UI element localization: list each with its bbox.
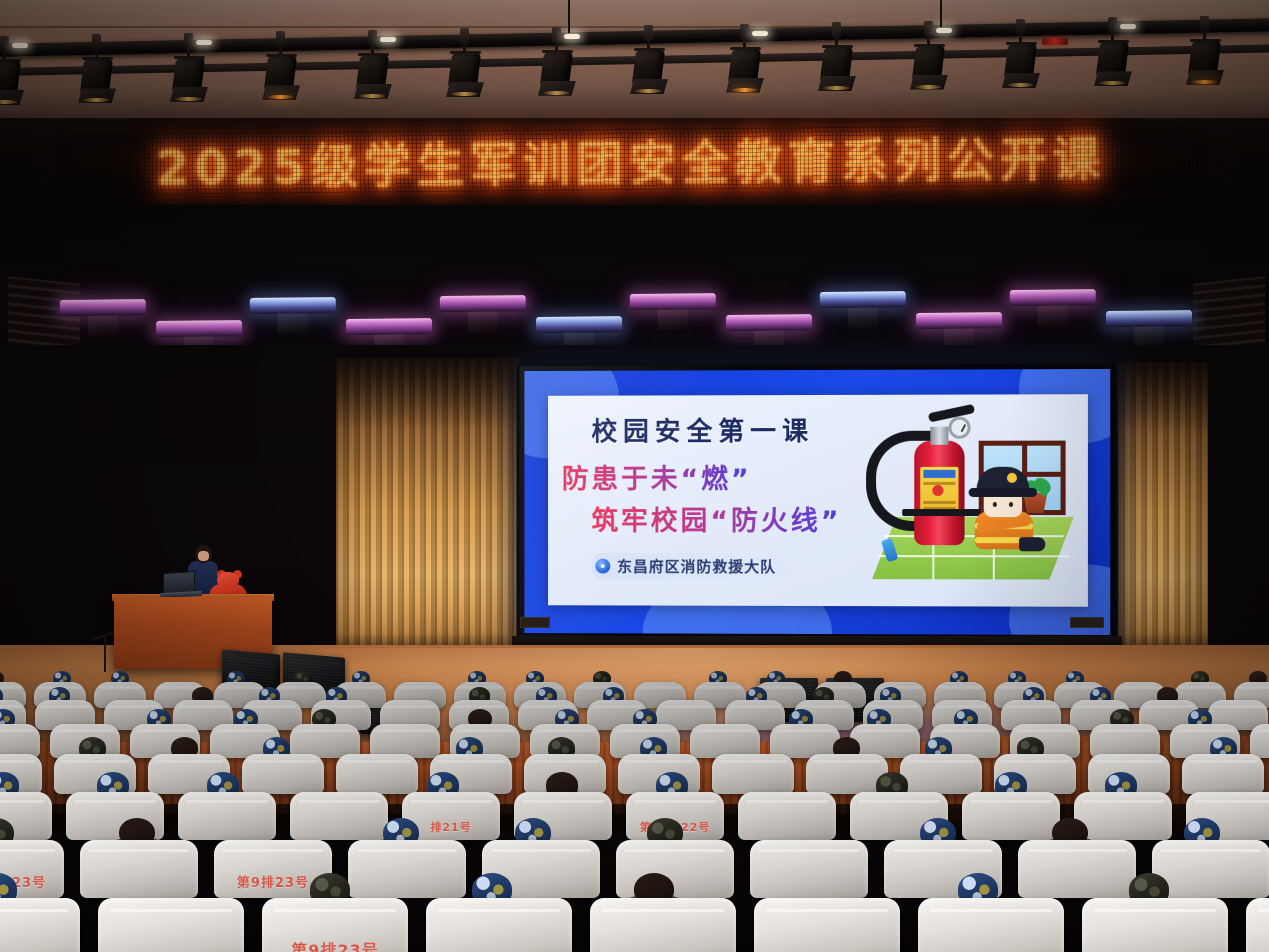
auditorium-seat[interactable] [590,898,736,952]
lawn-line [878,555,1070,557]
auditorium-seat[interactable] [918,898,1064,952]
truss-clamp [460,28,469,44]
spotlight-body [1004,44,1037,78]
spotlight-lens [1191,80,1218,84]
spotlight-lens [1007,83,1034,87]
auditorium-seat[interactable] [178,792,276,840]
led-banner-text: 2025级学生军训团安全教育系列公开课 [156,120,1106,198]
auditorium-seat[interactable] [0,724,40,758]
auditorium-seat[interactable] [426,898,572,952]
led-wash-bar [1106,310,1192,327]
led-wash-bar [60,299,146,316]
microphone-stand [104,636,106,672]
slide-content-card: 校园安全第一课 防患于未“燃” 筑牢校园“防火线” ● 东昌府区消防救援大队 [548,394,1088,607]
spotlight-lens [175,97,202,101]
spotlight-body [80,59,113,93]
stage-curtain-left [336,358,522,650]
auditorium-seat[interactable] [336,754,418,794]
auditorium-seat[interactable] [750,840,868,898]
slide-background: 校园安全第一课 防患于未“燃” 筑牢校园“防火线” ● 东昌府区消防救援大队 [524,369,1110,635]
truss-clamp [552,27,561,43]
auditorium-seat[interactable] [98,898,244,952]
led-wash-bar [346,318,432,335]
extinguisher-label [920,467,958,515]
auditorium-seat[interactable] [1250,724,1269,758]
truss-clamp [644,25,653,41]
spotlight-body [172,58,205,92]
truss-clamp [1200,16,1209,32]
spotlight-body [540,52,573,86]
truss-clamp [740,24,749,40]
auditorium-seat[interactable] [1152,840,1269,898]
truss-indicator-light [936,28,952,33]
mascot-head [217,572,239,589]
spotlight-body [820,47,853,81]
truss-clamp [92,34,101,50]
label-band [923,501,955,504]
auditorium-scene: 2025级学生军训团安全教育系列公开课 校园安全第一课 防患于未“燃” 筑牢校园… [0,0,1269,952]
truss-clamp [1016,19,1025,35]
led-wash-bar [156,320,242,337]
auditorium-seat[interactable] [850,724,920,758]
spotlight-body [728,49,761,83]
led-wash-bar [1010,289,1096,306]
auditorium-seat[interactable] [1182,754,1264,794]
spotlight-body [356,55,389,89]
auditorium-seat[interactable] [900,754,982,794]
slide-headline-2: 筑牢校园“防火线” [591,499,841,538]
auditorium-seat[interactable] [1018,840,1136,898]
led-wash-bar [726,314,812,331]
spotlight-body [1188,41,1221,75]
helmet-badge-icon [1007,473,1017,483]
auditorium-seat[interactable] [290,792,388,840]
spotlight-body [632,50,665,84]
spotlight-body [264,56,297,90]
auditorium-seat[interactable] [290,724,360,758]
truss-indicator-light [196,40,212,45]
firefighter-eye [1009,502,1013,507]
truss-clamp [832,22,841,38]
truss-indicator-light [564,34,580,39]
spotlight-lens [359,94,386,98]
extinguisher-neck [930,427,948,445]
auditorium-seat[interactable] [1082,898,1228,952]
label-band [923,470,955,478]
location-pin-icon: ● [595,559,610,574]
truss-indicator-light [1120,24,1136,29]
auditorium-seat[interactable] [712,754,794,794]
seat-number-label: 第9排23号 [262,937,408,952]
firefighter-eye [993,502,997,507]
truss-marker-light [1042,38,1068,45]
truss-indicator-light [380,37,396,42]
slide-title: 校园安全第一课 [591,411,814,448]
spotlight-body [912,46,945,80]
auditorium-seat[interactable] [770,724,840,758]
auditorium-seat[interactable] [1246,898,1269,952]
slide-organization: ● 东昌府区消防救援大队 [591,553,806,580]
slide-illustration [862,404,1082,587]
auditorium-seat[interactable] [754,898,900,952]
slide-headline-1: 防患于未“燃” [562,457,752,496]
spotlight-body [1096,42,1129,76]
truss-clamp [1108,17,1117,33]
helmet-brim [969,488,1038,497]
spotlight-body [448,53,481,87]
curtain-shadow [1112,362,1208,434]
led-wash-bar [536,316,622,333]
auditorium-seat[interactable] [370,724,440,758]
led-wash-bar [916,312,1002,329]
projection-screen[interactable]: 校园安全第一课 防患于未“燃” 筑牢校园“防火线” ● 东昌府区消防救援大队 [517,361,1119,643]
spotlight-body [0,61,21,95]
auditorium-seat[interactable] [242,754,324,794]
screen-plaque [520,617,550,628]
slide-organization-label: 东昌府区消防救援大队 [617,556,776,577]
spotlight-lens [543,91,570,95]
auditorium-seat[interactable] [80,840,198,898]
auditorium-seat[interactable] [690,724,760,758]
firefighter-character [963,467,1046,550]
presenter-face [198,551,209,561]
truss-clamp [368,30,377,46]
label-dot [932,485,943,496]
truss-indicator-light [752,31,768,36]
auditorium-seat[interactable] [1090,724,1160,758]
pressure-gauge-icon [948,417,970,439]
auditorium-seat[interactable] [962,792,1060,840]
audience-seating: 排21号第11排22号第11排23号第9排23号第9排23号 [0,676,1269,952]
light-cable [568,0,570,33]
truss-clamp [276,31,285,47]
truss-clamp [0,36,9,52]
led-wash-bar [250,297,336,314]
firefighter-boot [1019,537,1045,551]
screen-plaque [1070,617,1104,628]
led-banner: 2025级学生军训团安全教育系列公开课 [56,122,1207,195]
led-wash-bar [630,293,716,310]
truss-clamp [184,33,193,49]
auditorium-seat[interactable] [1074,792,1172,840]
led-wash-bar [820,291,906,308]
spotlight-lens [915,85,942,89]
truss-indicator-light [12,43,28,48]
spotlight-lens [731,88,758,92]
curtain-shadow [336,358,522,430]
auditorium-seat[interactable] [0,898,80,952]
auditorium-seat[interactable] [348,840,466,898]
led-wash-bar [440,295,526,312]
auditorium-seat[interactable] [738,792,836,840]
light-cable [940,0,942,27]
truss-clamp [924,21,933,37]
stage-curtain-right [1112,362,1208,650]
